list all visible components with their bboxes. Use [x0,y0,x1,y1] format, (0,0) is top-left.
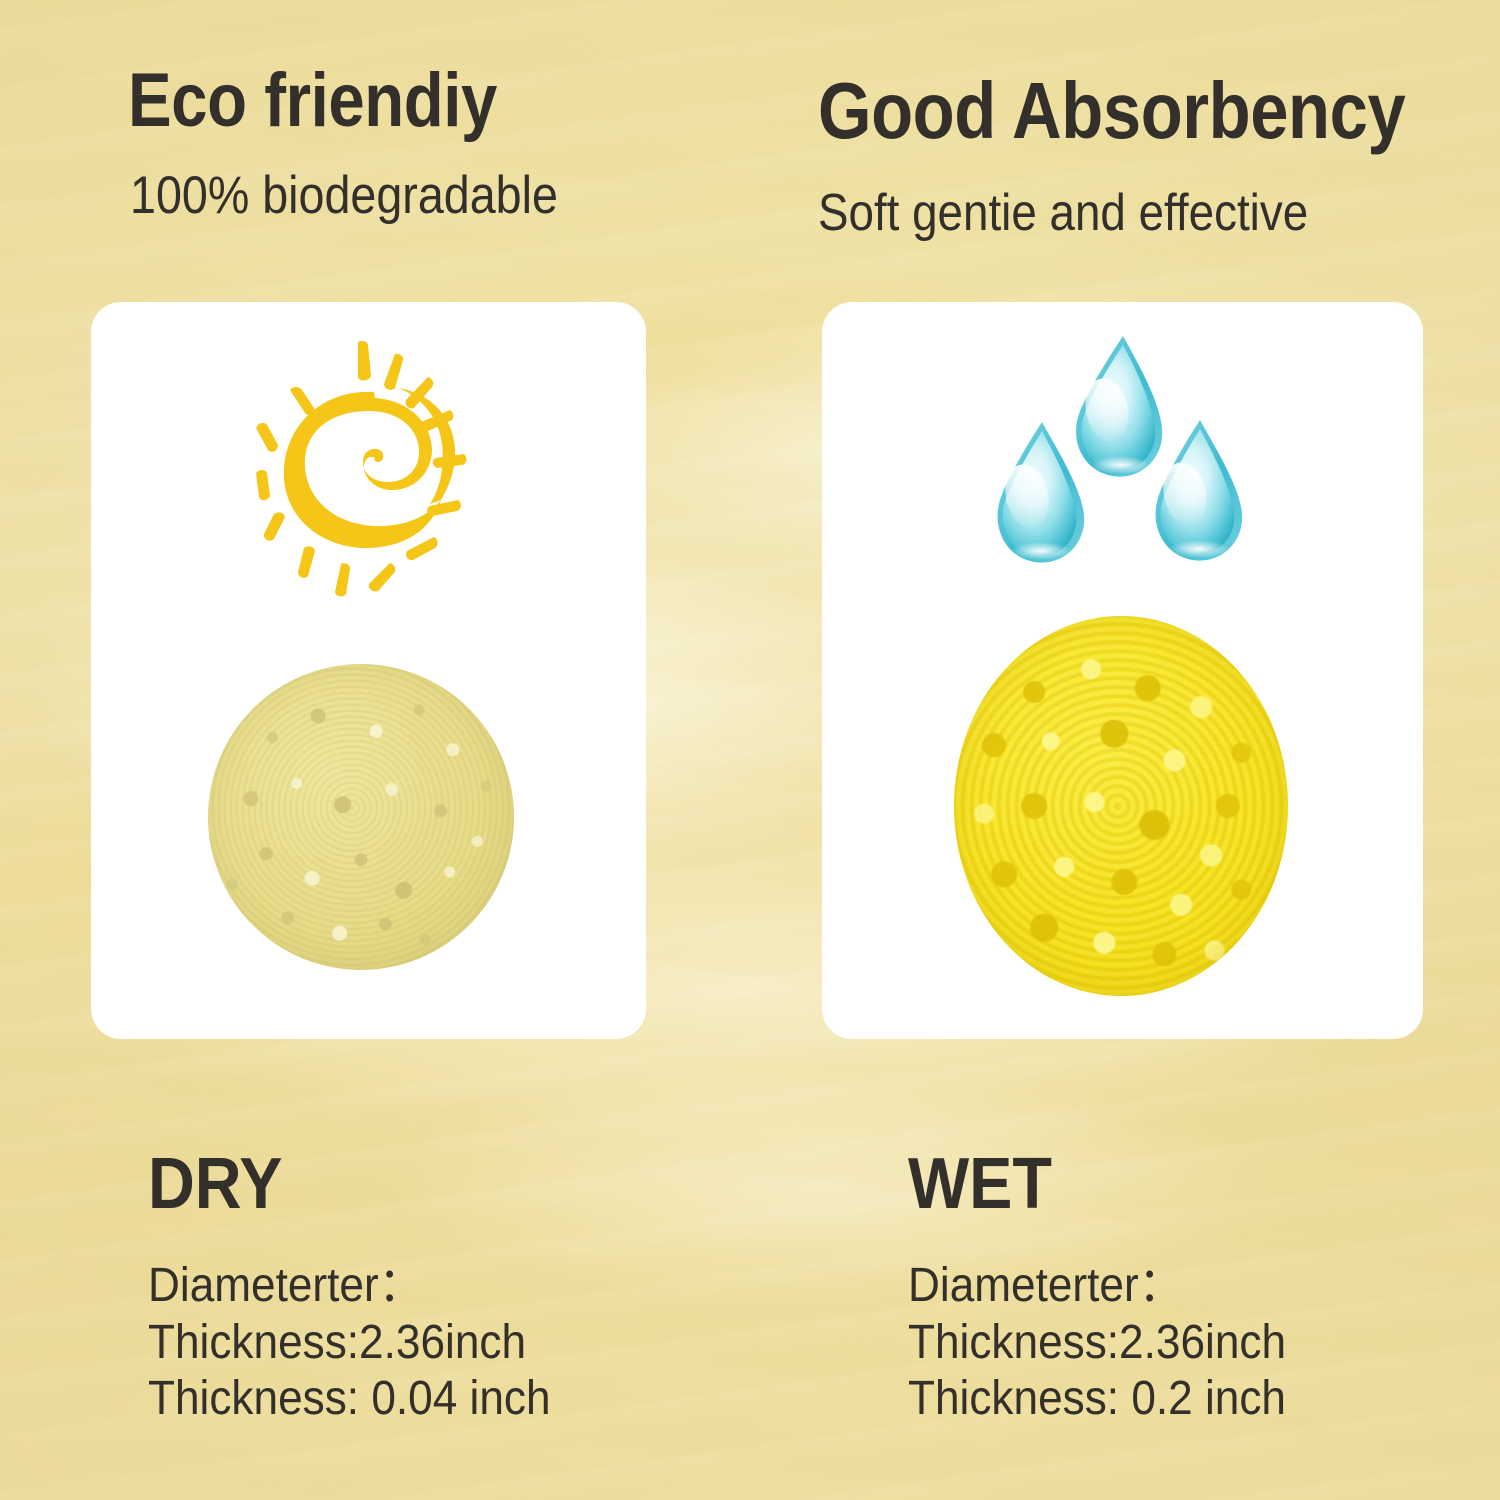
dry-spec-list: Diameterter： Thickness:2.36inch Thicknes… [148,1258,551,1428]
sun-icon [232,332,512,604]
wet-spec-thickness-1: Thickness:2.36inch [908,1315,1286,1372]
infographic-canvas: Eco friendiy 100% biodegradable Good Abs… [0,0,1500,1500]
wet-state-label: WET [908,1148,1052,1220]
water-droplets-icon [992,332,1254,580]
dry-spec-thickness-2: Thickness: 0.04 inch [148,1371,551,1428]
right-panel-header: Good Absorbency [818,70,1405,152]
left-panel-subheader: 100% biodegradable [130,168,558,224]
wet-spec-thickness-2: Thickness: 0.2 inch [908,1371,1286,1428]
wet-spec-diameter: Diameterter： [908,1258,1286,1315]
left-panel-header: Eco friendiy [128,62,497,140]
dry-spec-thickness-1: Thickness:2.36inch [148,1315,551,1372]
wet-spec-list: Diameterter： Thickness:2.36inch Thicknes… [908,1258,1286,1428]
dry-state-label: DRY [148,1148,282,1220]
wet-sponge-disc [954,616,1288,996]
right-panel-subheader: Soft gentie and effective [818,186,1308,241]
dry-sponge-disc [208,664,514,970]
dry-spec-diameter: Diameterter： [148,1258,551,1315]
